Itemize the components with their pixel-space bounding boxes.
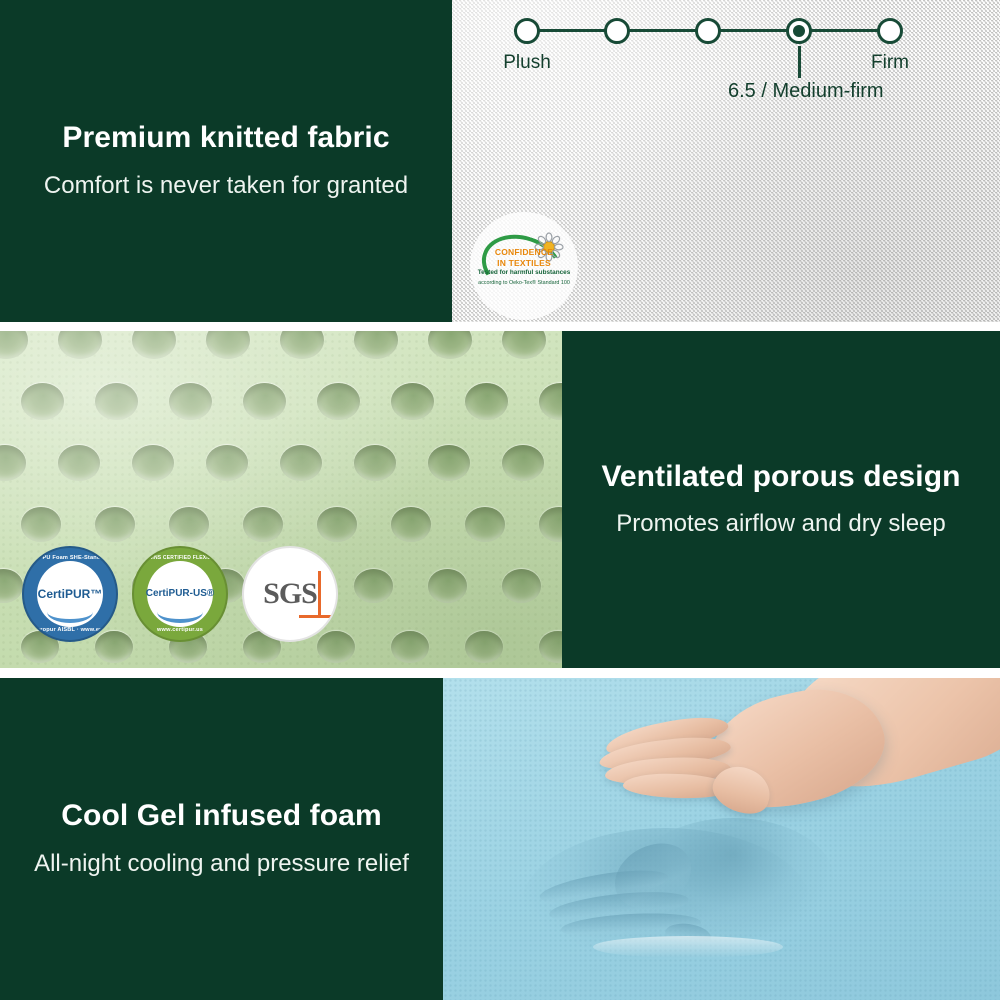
oeko-tex-badge: CONFIDENCE IN TEXTILES Tested for harmfu… <box>470 212 578 320</box>
certipur-ring-bottom: by Europur AISBL · www.europur.org <box>24 627 116 633</box>
foam-perforation <box>391 383 434 420</box>
foam-perforation <box>502 569 541 603</box>
foam-perforation <box>0 331 28 359</box>
foam-perforation <box>206 331 250 359</box>
foam-perforation <box>428 569 467 603</box>
foam-perforation <box>21 507 61 542</box>
foam-perforation <box>317 507 357 542</box>
oeko-tex-title-line2: IN TEXTILES <box>476 259 572 269</box>
foam-perforation <box>132 445 174 481</box>
fabric-copy-panel: Premium knitted fabric Comfort is never … <box>0 0 452 322</box>
foam-perforation <box>465 383 508 420</box>
porous-copy-panel: Ventilated porous design Promotes airflo… <box>562 331 1000 668</box>
oeko-tex-title-line1: CONFIDENCE <box>476 248 572 258</box>
oeko-tex-standard: according to Oeko-Tex® Standard 100 <box>476 280 572 287</box>
foam-perforation <box>465 631 503 663</box>
foam-perforation <box>243 507 283 542</box>
foam-perforation <box>502 331 546 359</box>
foam-perforation <box>58 445 100 481</box>
foam-perforation <box>502 445 544 481</box>
firmness-label-plush: Plush <box>477 52 577 74</box>
foam-perforation <box>206 445 248 481</box>
certipur-us-swoosh-icon <box>157 601 203 623</box>
porous-headline: Ventilated porous design <box>601 460 960 495</box>
foam-perforation <box>0 445 26 481</box>
gel-subline: All-night cooling and pressure relief <box>34 850 409 879</box>
foam-perforation <box>539 631 562 663</box>
firmness-node-3[interactable] <box>695 18 721 44</box>
foam-perforation <box>465 507 505 542</box>
hand-illustration <box>539 678 1000 850</box>
certipur-badge: The PU Foam SHE-Standard CertiPUR™ by Eu… <box>22 546 118 642</box>
foam-perforation <box>317 383 360 420</box>
foam-perforation <box>391 507 431 542</box>
oeko-tex-claim: Tested for harmful substances <box>476 269 572 277</box>
firmness-node-1[interactable] <box>514 18 540 44</box>
fabric-headline: Premium knitted fabric <box>62 121 389 156</box>
porous-subline: Promotes airflow and dry sleep <box>616 510 945 539</box>
foam-perforation <box>21 383 64 420</box>
firmness-node-2[interactable] <box>604 18 630 44</box>
fabric-subline: Comfort is never taken for granted <box>44 172 408 201</box>
foam-perforation <box>354 569 393 603</box>
fabric-photo: Plush Firm 6.5 / Medium-firm <box>452 0 1000 322</box>
foam-perforation <box>428 331 472 359</box>
foam-perforation <box>354 445 396 481</box>
firmness-label-firm: Firm <box>840 52 940 74</box>
firmness-selected-stem <box>798 46 801 78</box>
sgs-vertical-bar-icon <box>318 571 321 617</box>
certification-badge-group: The PU Foam SHE-Standard CertiPUR™ by Eu… <box>22 546 338 642</box>
certipur-us-wordmark: CertiPUR-US® <box>146 589 215 599</box>
feature-row-porous: The PU Foam SHE-Standard CertiPUR™ by Eu… <box>0 331 1000 668</box>
foam-perforation <box>354 331 398 359</box>
product-feature-sheet: Premium knitted fabric Comfort is never … <box>0 0 1000 1000</box>
foam-perforation <box>58 331 102 359</box>
foam-perforation <box>169 383 212 420</box>
foam-perforation <box>95 507 135 542</box>
sgs-badge: SGS <box>242 546 338 642</box>
certipur-us-badge: CONTAINS CERTIFIED FLEXIBLE POLYURETHANE… <box>132 546 228 642</box>
sgs-horizontal-bar-icon <box>299 615 333 618</box>
gel-foam-photo <box>443 678 1000 1000</box>
sgs-wordmark: SGS <box>263 579 317 609</box>
certipur-swoosh-icon <box>47 601 93 623</box>
foam-ridge-highlight <box>593 936 783 958</box>
feature-row-fabric: Premium knitted fabric Comfort is never … <box>0 0 1000 322</box>
firmness-node-4-selected[interactable] <box>786 18 812 44</box>
foam-perforation <box>280 445 322 481</box>
porous-foam-photo: The PU Foam SHE-Standard CertiPUR™ by Eu… <box>0 331 562 668</box>
foam-perforation <box>132 331 176 359</box>
foam-perforation <box>539 507 562 542</box>
feature-row-gel: Cool Gel infused foam All-night cooling … <box>0 678 1000 1000</box>
firmness-scale: Plush Firm 6.5 / Medium-firm <box>452 0 1000 130</box>
gel-headline: Cool Gel infused foam <box>61 799 381 834</box>
foam-perforation <box>243 383 286 420</box>
certipur-wordmark: CertiPUR™ <box>38 588 103 600</box>
foam-perforation <box>280 331 324 359</box>
foam-perforation <box>539 383 562 420</box>
foam-perforation <box>428 445 470 481</box>
foam-perforation <box>0 569 23 603</box>
gel-copy-panel: Cool Gel infused foam All-night cooling … <box>0 678 443 1000</box>
foam-perforation <box>391 631 429 663</box>
firmness-selected-value: 6.5 / Medium-firm <box>728 80 884 103</box>
foam-perforation <box>95 383 138 420</box>
foam-perforation <box>169 507 209 542</box>
firmness-node-5[interactable] <box>877 18 903 44</box>
certipur-us-ring-bottom: www.certipur.us <box>134 627 226 633</box>
